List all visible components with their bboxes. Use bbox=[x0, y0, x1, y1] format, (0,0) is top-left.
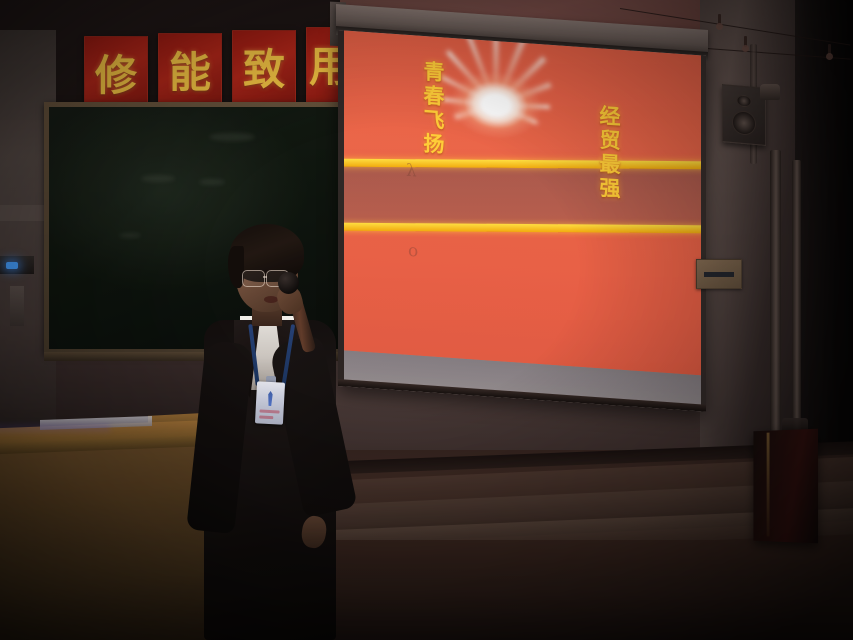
slide-gold-line-bottom bbox=[344, 223, 701, 234]
left-wall-panel-seam bbox=[0, 205, 50, 221]
badge-text-line-2 bbox=[259, 415, 273, 419]
placard-char-3: 致 bbox=[243, 49, 285, 91]
right-wall-shadow bbox=[795, 0, 853, 470]
ceiling-hook-3 bbox=[744, 36, 747, 47]
ceiling-hook-2 bbox=[828, 44, 831, 55]
wall-pipe-2 bbox=[792, 160, 801, 450]
slide-ghost-mark-2: o bbox=[408, 241, 418, 262]
glasses-bridge bbox=[263, 276, 267, 278]
photo-scene: 修 能 致 用 bbox=[0, 0, 853, 640]
floor-standing-speaker bbox=[753, 429, 818, 544]
wooden-lectern bbox=[0, 430, 222, 640]
wall-pipe-1 bbox=[770, 150, 781, 450]
speaker-mount-bracket bbox=[760, 84, 780, 100]
speaker-tweeter bbox=[737, 94, 752, 107]
projected-slide: λ o 青春飞扬 经贸最强 bbox=[344, 30, 701, 375]
slide-center-band bbox=[344, 161, 701, 226]
chalk-smudge-3 bbox=[199, 179, 225, 185]
placard-char-2: 能 bbox=[169, 52, 211, 94]
blue-status-led-icon bbox=[6, 262, 18, 269]
ceiling-hook-1 bbox=[718, 14, 721, 25]
chalk-smudge-2 bbox=[141, 175, 175, 182]
floor-speaker-edge-highlight bbox=[767, 433, 770, 537]
badge-text-line-1 bbox=[259, 409, 279, 413]
placard-2: 能 bbox=[158, 33, 222, 113]
wall-switch[interactable] bbox=[10, 286, 24, 326]
chalk-smudge-4 bbox=[119, 233, 141, 238]
badge-emblem-icon bbox=[264, 391, 276, 407]
screen-edge-right bbox=[701, 55, 706, 411]
projection-screen: λ o 青春飞扬 经贸最强 bbox=[338, 30, 706, 412]
chalk-smudge-1 bbox=[209, 133, 255, 141]
slide-title-right: 经贸最强 bbox=[594, 104, 624, 202]
placard-char-1: 修 bbox=[95, 55, 137, 97]
wall-plaque-text-bar bbox=[704, 272, 734, 277]
wall-plaque bbox=[696, 259, 742, 289]
glasses-lens-left bbox=[242, 270, 265, 287]
lectern-screen-glow bbox=[0, 424, 110, 432]
id-badge bbox=[255, 381, 285, 424]
placard-3: 致 bbox=[232, 30, 296, 110]
microphone-icon[interactable] bbox=[278, 272, 299, 294]
slide-title-left: 青春飞扬 bbox=[418, 60, 448, 158]
speaker-woofer bbox=[732, 110, 756, 136]
student-speaker bbox=[190, 216, 360, 640]
slide-ghost-mark-1: λ bbox=[406, 161, 417, 182]
mouth bbox=[264, 296, 278, 303]
